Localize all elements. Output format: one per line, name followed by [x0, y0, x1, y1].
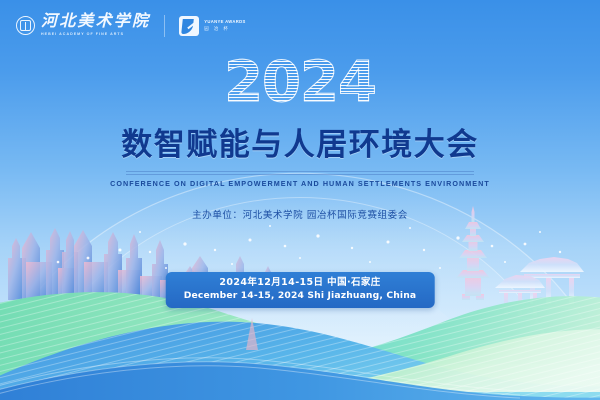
page-subtitle: CONFERENCE ON DIGITAL EMPOWERMENT AND HU… — [0, 179, 600, 188]
title-rules — [126, 171, 474, 175]
logo-yuanye-name-en: YUANYE AWARDS — [204, 19, 245, 26]
logo-hebei-academy-text: 河北美术学院 HEBEI ACADEMY OF FINE ARTS — [41, 14, 150, 38]
page-title: 数智赋能与人居环境大会 — [0, 126, 600, 165]
title-rule-top — [126, 171, 474, 172]
logo-yuanye-name-cn: 园 冶 杯 — [204, 26, 245, 33]
yuanye-mark-icon — [179, 16, 199, 36]
year-heading: 2024 — [0, 55, 600, 111]
header-logo-bar: 河北美术学院 HEBEI ACADEMY OF FINE ARTS YUANYE… — [0, 0, 600, 52]
logo-divider — [164, 15, 165, 37]
organizer-line: 主办单位：河北美术学院 园冶杯国际竞赛组委会 — [0, 207, 600, 221]
logo-hebei-academy-name-en: HEBEI ACADEMY OF FINE ARTS — [41, 32, 150, 38]
logo-yuanye-text: YUANYE AWARDS 园 冶 杯 — [204, 19, 245, 33]
title-rule-bottom — [126, 174, 474, 175]
conference-poster: 河北美术学院 HEBEI ACADEMY OF FINE ARTS YUANYE… — [0, 0, 600, 400]
year-text: 2024 — [224, 55, 376, 111]
logo-hebei-academy[interactable]: 河北美术学院 HEBEI ACADEMY OF FINE ARTS — [16, 14, 150, 38]
event-date-badge: 2024年12月14-15日 中国·石家庄 December 14-15, 20… — [166, 272, 435, 308]
logo-hebei-academy-name-cn: 河北美术学院 — [41, 14, 150, 31]
event-date-cn: 2024年12月14-15日 中国·石家庄 — [184, 277, 417, 290]
university-seal-icon — [16, 16, 35, 35]
title-block: 数智赋能与人居环境大会 CONFERENCE ON DIGITAL EMPOWE… — [0, 126, 600, 188]
logo-yuanye-awards[interactable]: YUANYE AWARDS 园 冶 杯 — [179, 16, 245, 36]
event-date-en: December 14-15, 2024 Shi Jiazhuang, Chin… — [184, 290, 417, 302]
